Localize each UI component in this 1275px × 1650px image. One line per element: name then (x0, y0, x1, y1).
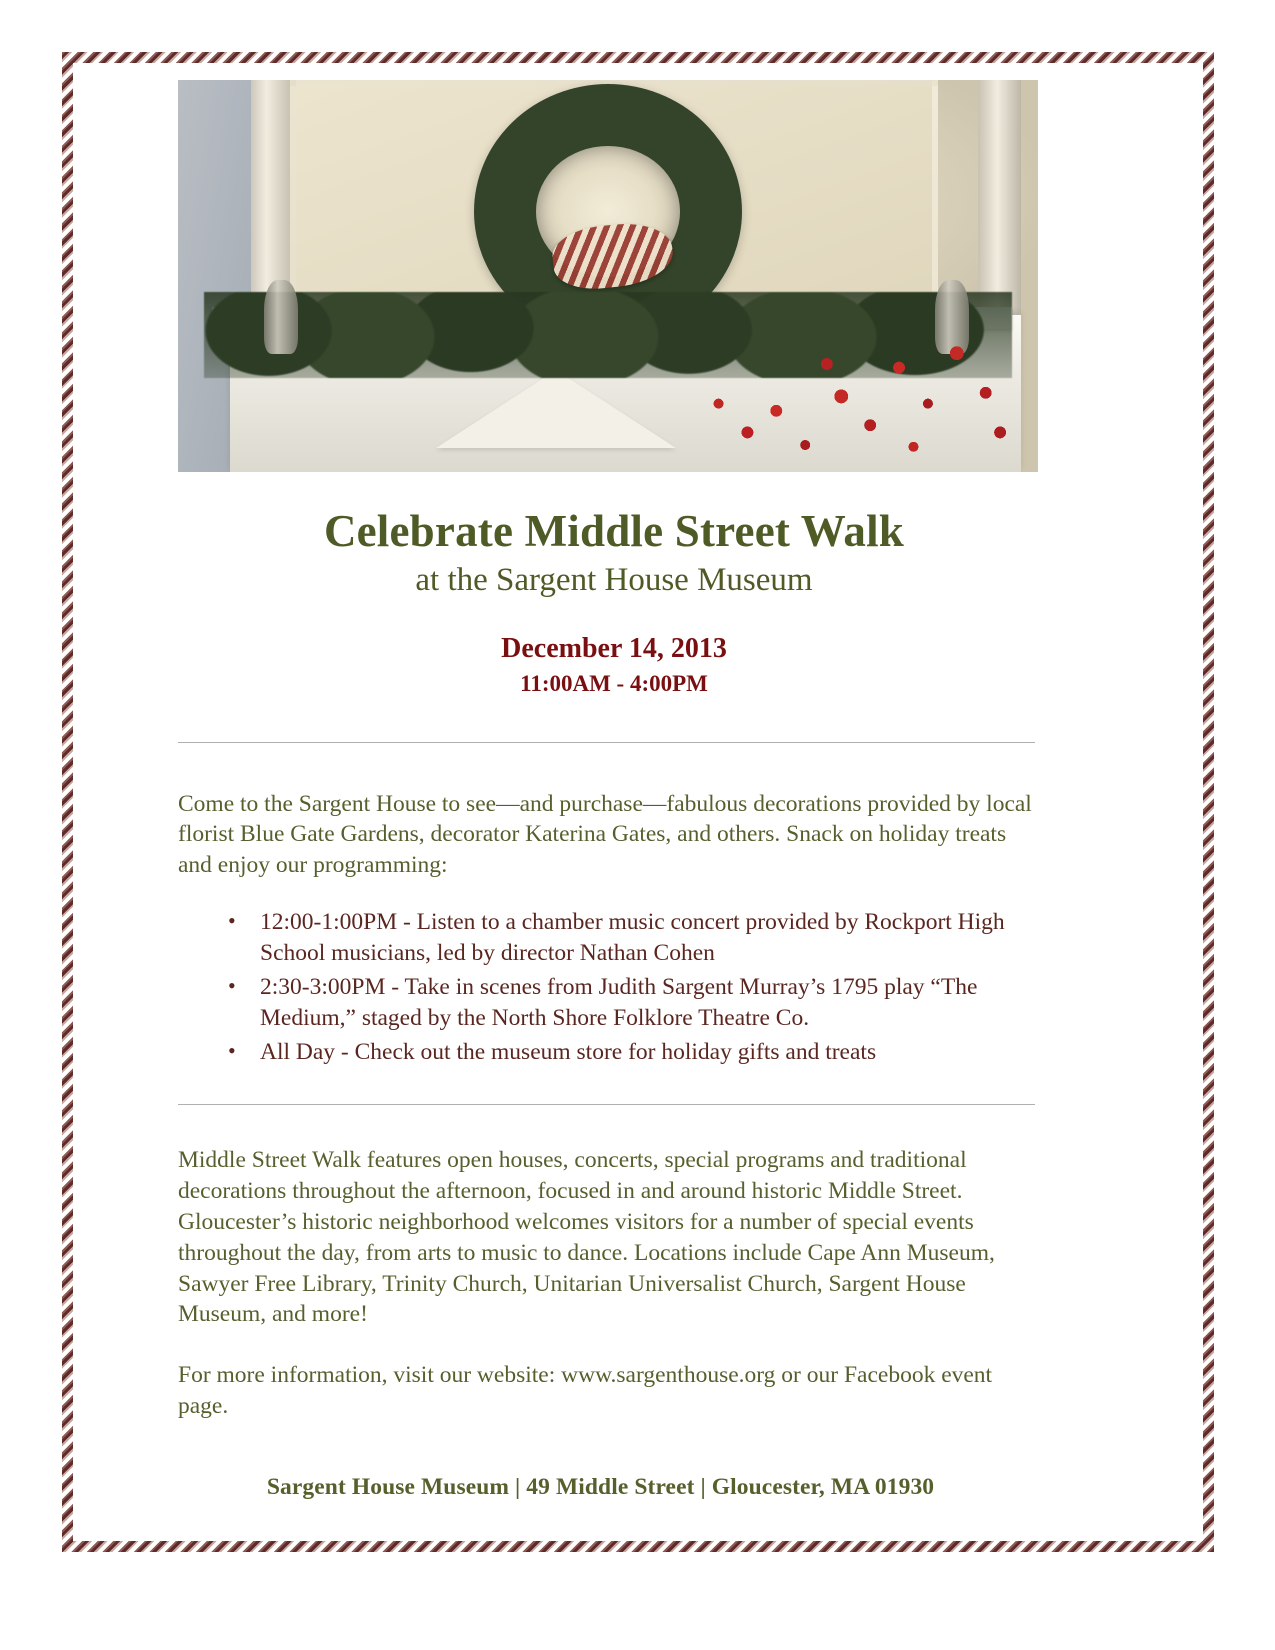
flyer-content: Celebrate Middle Street Walk at the Sarg… (0, 0, 1275, 1650)
divider-bottom (178, 1104, 1035, 1105)
program-list: 12:00-1:00PM - Listen to a chamber music… (178, 907, 1038, 1068)
flyer-page: Celebrate Middle Street Walk at the Sarg… (0, 0, 1275, 1650)
page-title: Celebrate Middle Street Walk (178, 506, 1050, 556)
divider-top (178, 742, 1035, 743)
list-item: 2:30-3:00PM - Take in scenes from Judith… (228, 972, 1038, 1034)
mantel-photo (178, 80, 1038, 472)
description-paragraph: Middle Street Walk features open houses,… (178, 1145, 1038, 1330)
photo-mantel-pediment (436, 370, 676, 448)
list-item: All Day - Check out the museum store for… (228, 1037, 1038, 1068)
winterberry-branch-icon (668, 292, 1029, 472)
photo-urn-left (264, 280, 298, 354)
more-info-paragraph: For more information, visit our website:… (178, 1360, 1038, 1422)
list-item: 12:00-1:00PM - Listen to a chamber music… (228, 907, 1038, 969)
footer-address: Sargent House Museum | 49 Middle Street … (178, 1474, 1023, 1501)
lead-paragraph: Come to the Sargent House to see—and pur… (178, 789, 1033, 881)
event-date: December 14, 2013 (178, 632, 1050, 666)
event-time: 11:00AM - 4:00PM (178, 670, 1050, 698)
page-subtitle: at the Sargent House Museum (178, 562, 1050, 600)
